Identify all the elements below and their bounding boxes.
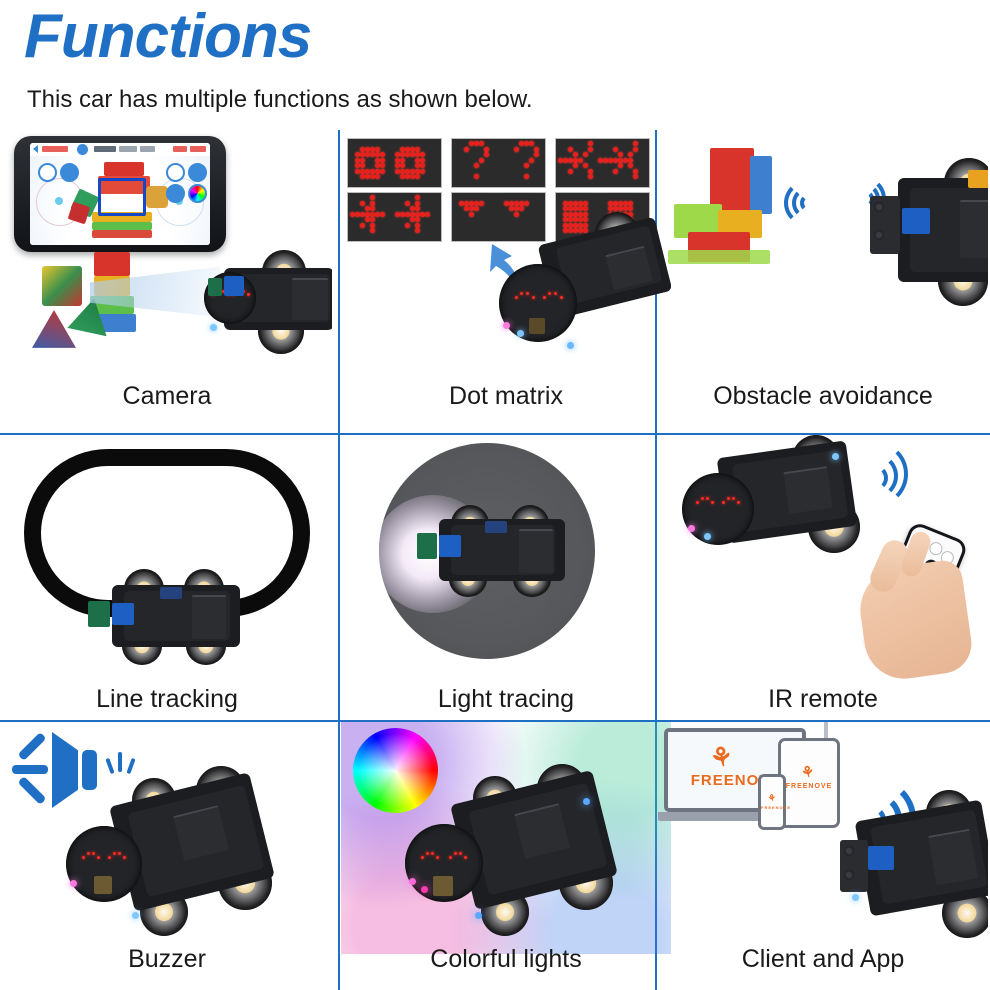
rgb-led-4 [583, 798, 590, 805]
buzz-lines [108, 748, 138, 778]
focus-rectangle [98, 178, 146, 216]
led-eye-left [696, 497, 718, 505]
led-eye-right [543, 292, 567, 300]
cell-label-client-and-app: Client and App [658, 947, 988, 972]
servo-motor [112, 603, 134, 625]
sensor-module [529, 318, 545, 334]
led-eye-right [722, 497, 744, 505]
servo-motor [868, 846, 894, 870]
rgb-led-3 [567, 342, 574, 349]
cell-colorful-lights[interactable]: Colorful lights [341, 722, 671, 990]
functions-page: Functions This car has multiple function… [0, 0, 990, 990]
cell-ir-remote[interactable]: IR remote [658, 435, 988, 722]
cell-label-ir-remote: IR remote [658, 687, 988, 712]
controller-board [485, 521, 507, 533]
hand-with-remote [848, 479, 988, 689]
cell-label-dot-matrix: Dot matrix [341, 384, 671, 409]
ultrasonic-sensor [870, 196, 900, 254]
robot-car-buzzer [66, 764, 316, 950]
rgb-led-2 [132, 912, 139, 919]
freenove-wordmark-phone: FREENOVE [761, 805, 783, 810]
rgb-led-1 [70, 880, 77, 887]
cell-camera[interactable]: Camera [2, 132, 332, 419]
dot-matrix-face [682, 473, 754, 545]
battery-pack [519, 529, 553, 573]
led-eye-right [449, 852, 471, 860]
rgb-led-2 [517, 330, 524, 337]
app-sound-button[interactable] [188, 163, 207, 182]
page-subtitle: This car has multiple functions as shown… [27, 88, 533, 112]
cell-label-camera: Camera [2, 384, 332, 409]
cell-label-line-tracking: Line tracking [2, 687, 332, 712]
pyramid-puzzle-1 [32, 310, 76, 354]
rgb-led-1 [852, 894, 859, 901]
ultrasonic-sensor [840, 840, 868, 892]
robot-car-dotmatrix [491, 210, 671, 364]
colorful-lights-illustration [341, 722, 671, 954]
sound-ray-upper [18, 732, 47, 761]
led-eye-left [421, 852, 443, 860]
buzzer-illustration [2, 722, 332, 954]
rgb-led-1 [688, 525, 695, 532]
block-base-plate [668, 250, 770, 264]
battery-pack [192, 595, 226, 639]
app-top-bar [30, 143, 210, 157]
cell-label-obstacle-avoidance: Obstacle avoidance [658, 384, 988, 409]
cell-dot-matrix[interactable]: Dot matrix [341, 132, 671, 419]
led-panel-4 [347, 192, 442, 242]
robot-car-colorful [405, 762, 655, 952]
robot-car-camera [200, 246, 332, 356]
camera-module [88, 601, 110, 627]
robot-car-obstacle [864, 148, 988, 318]
app-light-tag [119, 146, 137, 152]
servo-motor [224, 276, 244, 296]
rgb-led-1 [409, 878, 416, 885]
tablet-device: ⚘ FREENOVE [778, 738, 840, 828]
led-headlight [210, 324, 217, 331]
led-eye-right [108, 852, 130, 860]
grid-vline-1 [338, 130, 340, 990]
sensor-module [433, 876, 453, 896]
light-tracing-illustration [341, 435, 671, 667]
ir-remote-illustration [658, 435, 988, 690]
rgb-led-1 [503, 322, 510, 329]
app-photo-button[interactable] [166, 163, 185, 182]
app-stat-tag-1 [173, 146, 187, 152]
led-panel-3 [555, 138, 650, 188]
servo-motor [902, 208, 930, 234]
block-tan [146, 186, 168, 208]
block-red-tall [710, 148, 754, 210]
page-title: Functions [24, 6, 311, 68]
servo-motor [439, 535, 461, 557]
cell-label-light-tracing: Light tracing [341, 687, 671, 712]
battery-pack [960, 200, 988, 258]
app-color-button[interactable] [188, 184, 207, 203]
robot-car-linetracking [88, 569, 264, 665]
photoresistor-module [417, 533, 437, 559]
smartphone-device: ⚘ FREENOVE [758, 774, 786, 830]
led-eye-left [82, 852, 104, 860]
subject-block-red [94, 252, 130, 276]
sound-ray-lower [18, 776, 47, 805]
led-eye-left [515, 292, 539, 300]
app-camera-button[interactable] [60, 163, 79, 182]
left-joypad-knob[interactable] [55, 197, 63, 205]
rgb-led-2 [421, 886, 428, 893]
cell-label-colorful-lights: Colorful lights [341, 947, 671, 972]
cell-client-and-app[interactable]: ⚘ FREENOVE ⚘ FREENOVE ⚘ FREENOVE [658, 722, 988, 990]
cell-label-buzzer: Buzzer [2, 947, 332, 972]
app-record-button[interactable] [38, 163, 57, 182]
cell-line-tracking[interactable]: Line tracking [2, 435, 332, 722]
app-title-tag [42, 146, 68, 152]
wheel-hub-yellow [968, 170, 988, 188]
battery-pack [292, 278, 328, 320]
camera-illustration [2, 132, 332, 364]
freenove-wordmark-tablet: FREENOVE [783, 783, 835, 790]
line-tracking-illustration [2, 435, 332, 667]
led-panel-1 [347, 138, 442, 188]
block-blue [750, 156, 772, 214]
app-line-tag [140, 146, 155, 152]
gear-icon[interactable] [77, 144, 88, 155]
block-green [92, 222, 152, 230]
block-red-top [104, 162, 144, 176]
rgb-led-3 [475, 912, 482, 919]
robot-car-lighttracing [417, 505, 589, 601]
freenove-mark-tablet: ⚘ [800, 762, 816, 782]
freenove-mark-phone: ⚘ [767, 792, 777, 804]
battery-pack [783, 466, 832, 514]
robot-car-clientapp [840, 788, 988, 952]
obstacle-illustration [658, 132, 988, 364]
cell-obstacle-avoidance[interactable]: Obstacle avoidance [658, 132, 988, 419]
client-app-illustration: ⚘ FREENOVE ⚘ FREENOVE ⚘ FREENOVE [658, 722, 988, 954]
block-red-low [92, 230, 152, 238]
cell-light-tracing[interactable]: Light tracing [341, 435, 671, 722]
app-mode-tag [94, 146, 116, 152]
camera-module [208, 278, 222, 296]
smartphone-mockup [14, 136, 226, 252]
controller-board [160, 587, 182, 599]
rgb-led-2 [704, 533, 711, 540]
buzzer-module [94, 876, 112, 894]
app-emoji-button[interactable] [166, 184, 185, 203]
led-panel-2 [451, 138, 546, 188]
dot-matrix-illustration [341, 132, 671, 364]
sonar-wave-left [784, 176, 828, 224]
app-stat-tag-2 [190, 146, 206, 152]
sound-ray-middle [12, 765, 48, 774]
rubiks-cube [42, 266, 82, 306]
rgb-led-3 [832, 453, 839, 460]
back-arrow-icon[interactable] [33, 145, 38, 153]
cell-buzzer[interactable]: Buzzer [2, 722, 332, 990]
battery-pack [928, 829, 978, 886]
functions-grid: Camera [0, 130, 990, 990]
